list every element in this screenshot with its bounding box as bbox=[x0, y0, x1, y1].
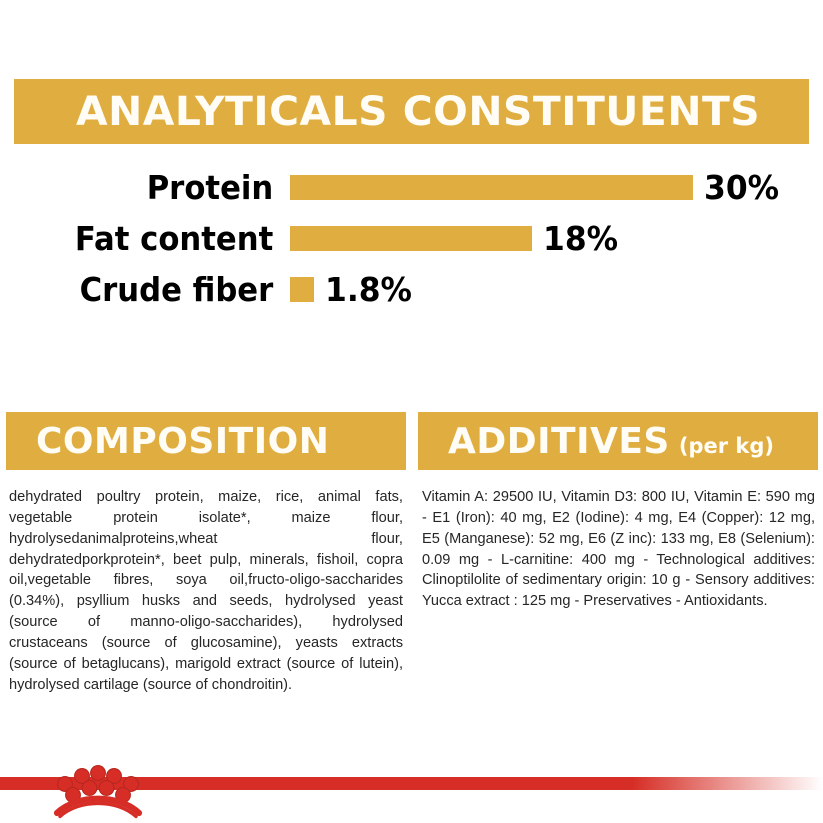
bar-row-protein: Protein 30% bbox=[0, 165, 823, 209]
additives-body-text: Vitamin A: 29500 IU, Vitamin D3: 800 IU,… bbox=[418, 487, 818, 612]
brand-footer-strip bbox=[0, 762, 823, 823]
additives-subtitle-per-kg: (per kg) bbox=[679, 436, 774, 457]
bar-fill-protein bbox=[290, 175, 693, 200]
composition-title: COMPOSITION bbox=[36, 424, 329, 460]
bar-row-crude-fiber: Crude fiber 1.8% bbox=[0, 267, 823, 311]
footer-rule-right bbox=[143, 777, 823, 790]
royal-canin-crown-icon bbox=[44, 762, 152, 820]
additives-title: ADDITIVES bbox=[448, 424, 670, 460]
composition-heading-band: COMPOSITION bbox=[6, 412, 406, 470]
bar-value-crude-fiber: 1.8% bbox=[325, 273, 412, 306]
bar-track-fat-content: 18% bbox=[290, 222, 823, 255]
additives-section: ADDITIVES (per kg) Vitamin A: 29500 IU, … bbox=[418, 412, 818, 612]
composition-body-text: dehydrated poultry protein, maize, rice,… bbox=[6, 487, 406, 696]
bar-track-crude-fiber: 1.8% bbox=[290, 273, 823, 306]
bar-fill-crude-fiber bbox=[290, 277, 314, 302]
bar-fill-fat-content bbox=[290, 226, 532, 251]
bar-track-protein: 30% bbox=[290, 171, 823, 204]
bar-label-crude-fiber: Crude fiber bbox=[20, 273, 290, 306]
analyticals-constituents-heading-band: ANALYTICALS CONSTITUENTS bbox=[14, 79, 809, 144]
bar-label-protein: Protein bbox=[20, 171, 290, 204]
bar-value-fat-content: 18% bbox=[543, 222, 618, 255]
analyticals-constituents-title: ANALYTICALS CONSTITUENTS bbox=[76, 92, 760, 132]
composition-section: COMPOSITION dehydrated poultry protein, … bbox=[6, 412, 406, 696]
additives-heading-band: ADDITIVES (per kg) bbox=[418, 412, 818, 470]
bar-row-fat-content: Fat content 18% bbox=[0, 216, 823, 260]
bar-value-protein: 30% bbox=[704, 171, 779, 204]
analyticals-bar-chart: Protein 30% Fat content 18% Crude fiber … bbox=[0, 165, 823, 315]
bar-label-fat-content: Fat content bbox=[20, 222, 290, 255]
